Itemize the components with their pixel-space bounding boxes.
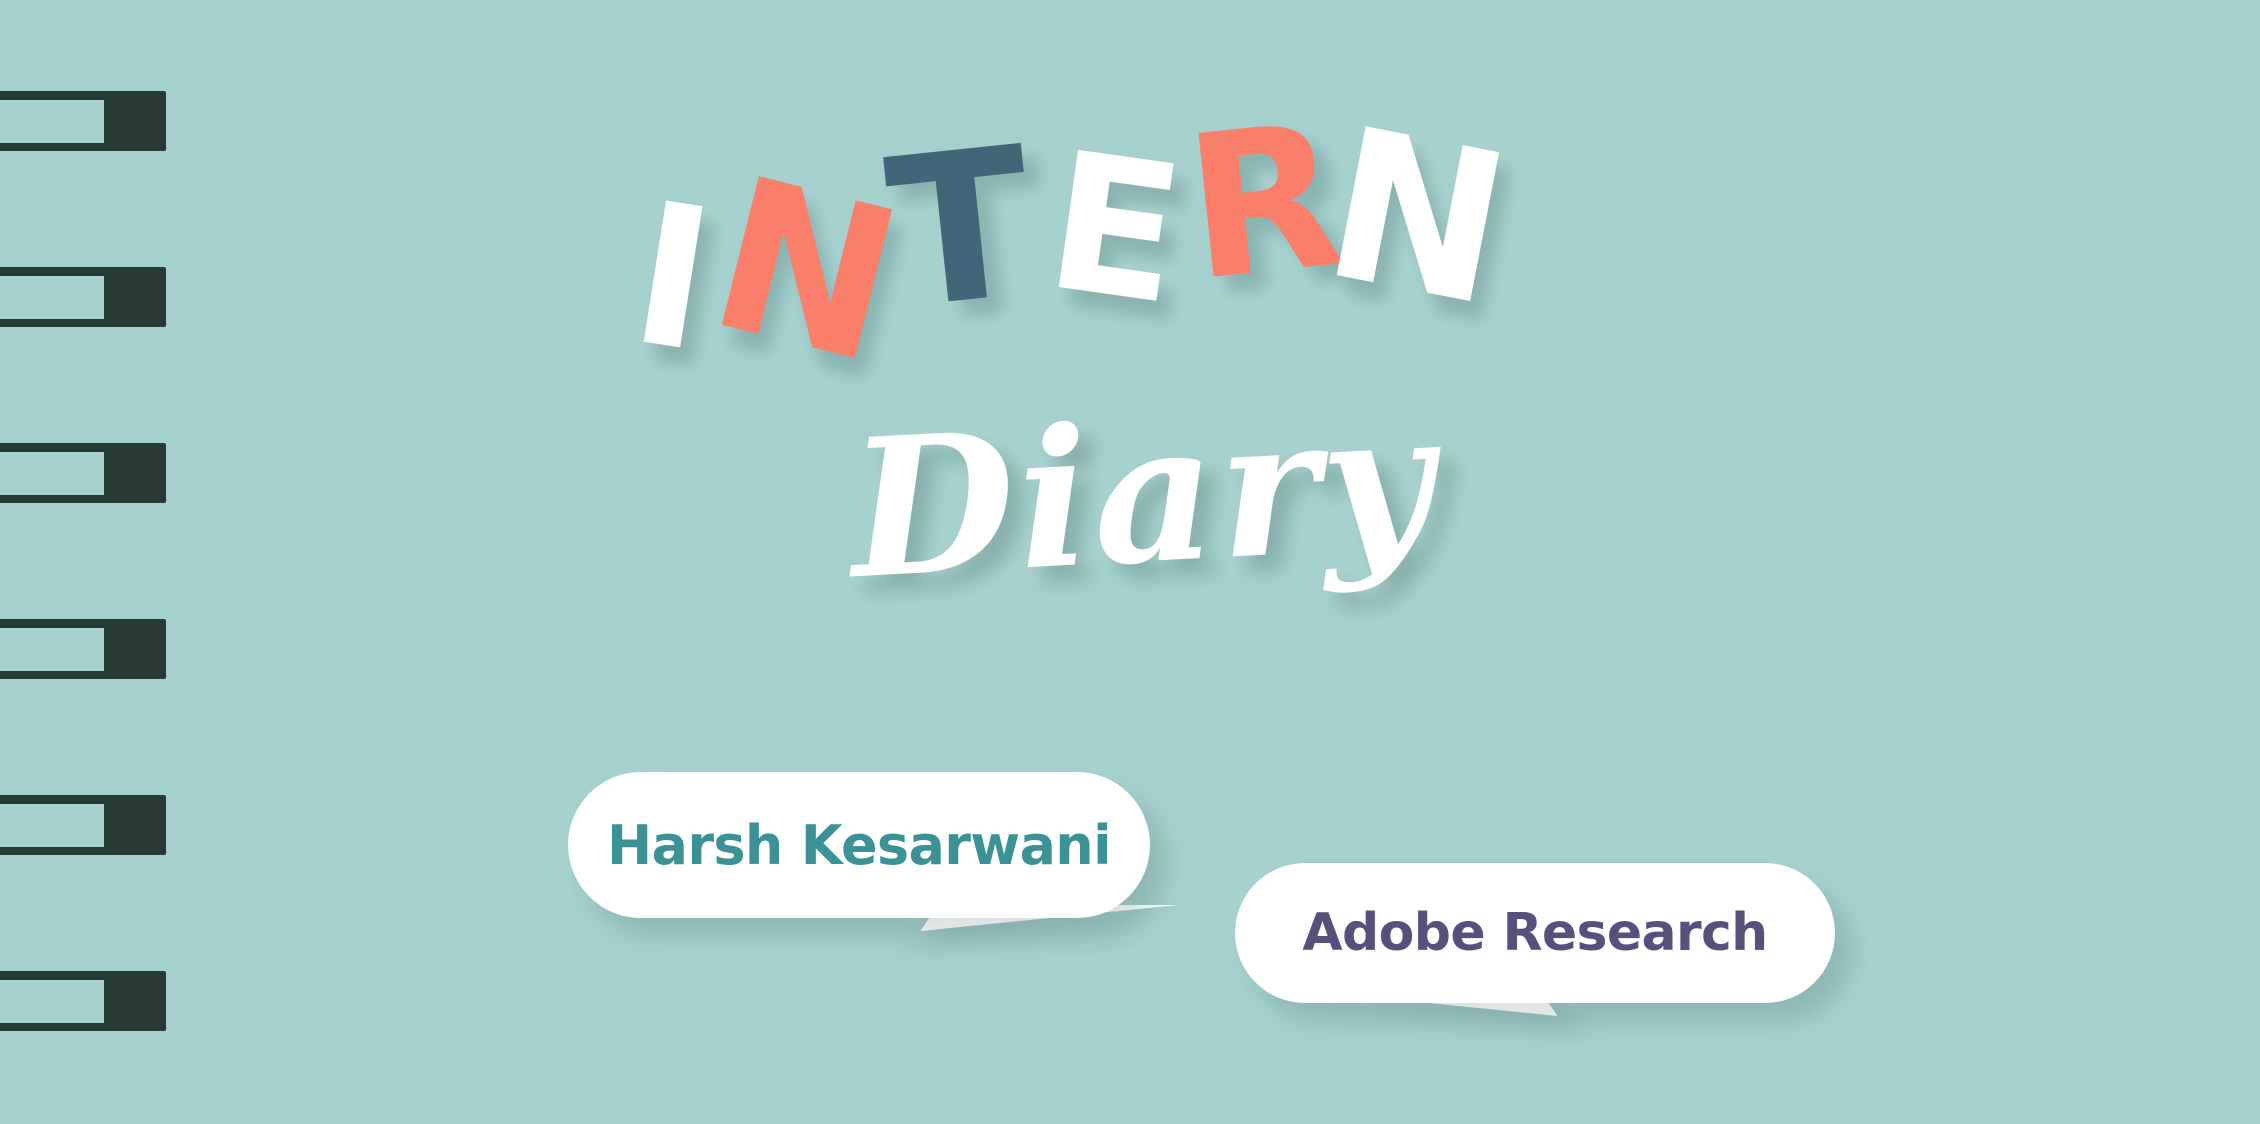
notebook-spiral-binding [0, 0, 170, 1124]
title-card-canvas: INTERN Diary Harsh Kesarwani Adobe Resea… [0, 0, 2260, 1124]
binding-ring-hole [0, 452, 104, 495]
subtitle-diary: Diary [850, 400, 1470, 660]
speech-bubble-name[interactable]: Harsh Kesarwani [568, 772, 1150, 918]
speech-bubble-org-label: Adobe Research [1302, 903, 1767, 963]
speech-bubble-name-label: Harsh Kesarwani [607, 814, 1111, 877]
binding-ring [0, 267, 166, 327]
title-intern: INTERN [600, 120, 1680, 420]
title-letter-n-1: N [695, 148, 912, 393]
speech-bubble-org[interactable]: Adobe Research [1235, 863, 1835, 1003]
binding-ring-hole [0, 100, 104, 143]
binding-ring-hole [0, 980, 104, 1023]
binding-ring [0, 619, 166, 679]
title-letter-t-2: T [880, 119, 1037, 338]
binding-ring [0, 971, 166, 1031]
title-letter-e-3: E [1037, 126, 1188, 332]
title-letter-n-5: N [1312, 100, 1518, 337]
binding-ring-hole [0, 804, 104, 847]
binding-ring-hole [0, 628, 104, 671]
binding-ring [0, 91, 166, 151]
binding-ring [0, 795, 166, 855]
binding-ring [0, 443, 166, 503]
subtitle-diary-text: Diary [845, 385, 1439, 605]
binding-ring-hole [0, 276, 104, 319]
